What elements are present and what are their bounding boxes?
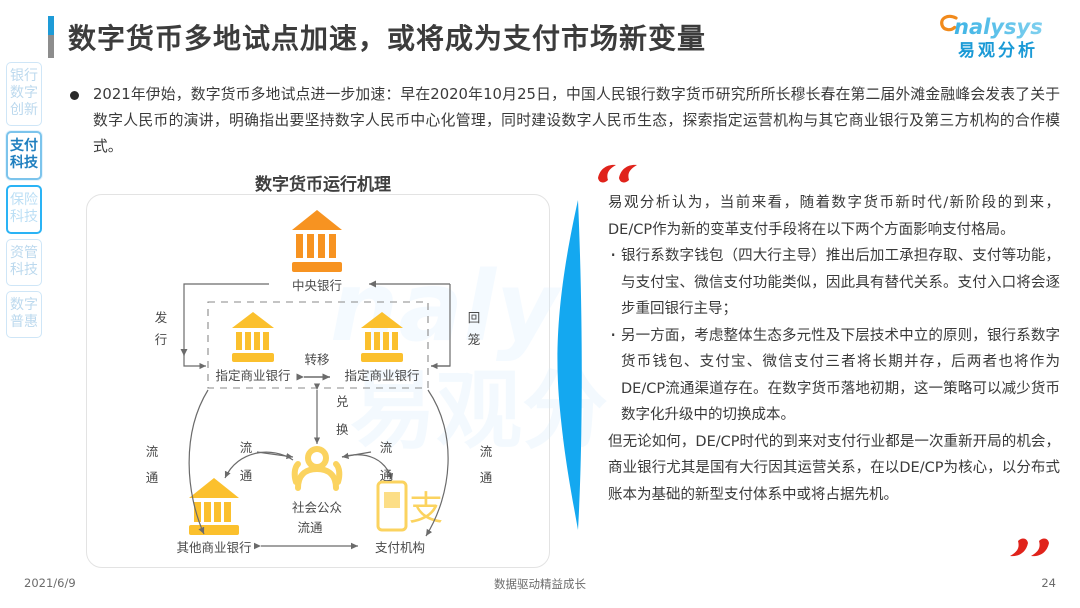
diagram-label-circ-mid-right2: 通 <box>380 468 393 483</box>
diagram-label-circ-left2: 通 <box>146 470 159 485</box>
diagram-label-circ-mid-left: 流 <box>240 440 253 455</box>
diagram-label-exchange2: 换 <box>336 422 349 437</box>
sidebar-item-label: 支付科技 <box>8 138 40 172</box>
bullet-dot-icon <box>70 91 79 100</box>
diagram-label-exchange: 兑 <box>336 394 349 409</box>
page-title-wrap: 数字货币多地试点加速，或将成为支付市场新变量 <box>48 16 706 58</box>
diagram-label-circ-right2: 通 <box>480 470 493 485</box>
intro-paragraph-block: 2021年伊始，数字货币多地试点进一步加速：早在2020年10月25日，中国人民… <box>70 82 1060 160</box>
commentary-bullet-item: 另一方面，考虑整体生态多元性及下层技术中立的原则，银行系数字货币钱包、支付宝、微… <box>608 323 1060 429</box>
sidebar-item-asset-management-tech[interactable]: 资管科技 <box>6 239 42 286</box>
diagram-label-withdraw2: 笼 <box>468 332 481 347</box>
quote-open-icon <box>596 164 642 186</box>
diagram-label-designated-bank-left: 指定商业银行 <box>215 368 290 383</box>
analysys-logo-icon: nalysys <box>938 12 1058 40</box>
public-person-icon <box>295 449 340 488</box>
commentary-panel: 易观分析认为，当前来看，随着数字货币新时代/新阶段的到来，DE/CP作为新的变革… <box>608 168 1060 523</box>
diagram-label-central-bank: 中央银行 <box>292 278 342 293</box>
designated-bank-left-icon <box>232 312 274 362</box>
sidebar-item-payment-tech[interactable]: 支付科技 <box>6 131 42 180</box>
sidebar-item-digital-inclusive-finance[interactable]: 数字普惠 <box>6 291 42 338</box>
blue-leaf-divider-icon <box>548 200 594 530</box>
sidebar-item-insurance-tech[interactable]: 保险科技 <box>6 185 42 234</box>
slide-root: 数字货币多地试点加速，或将成为支付市场新变量 nalysys 易观分析 <box>0 0 1080 608</box>
sidebar-item-label: 数字普惠 <box>7 297 41 331</box>
footer-slogan: 数据驱动精益成长 <box>0 576 1080 592</box>
commentary-text: 易观分析认为，当前来看，随着数字货币新时代/新阶段的到来，DE/CP作为新的变革… <box>608 168 1060 508</box>
diagram-label-circ-right: 流 <box>480 444 493 459</box>
footer-page-number: 24 <box>1041 576 1056 590</box>
diagram-label-circ-mid-right: 流 <box>380 440 393 455</box>
brand-logo: nalysys 易观分析 <box>938 12 1058 64</box>
commentary-bullet-list: 银行系数字钱包（四大行主导）推出后加工承担存取、支付等功能，与支付宝、微信支付功… <box>608 243 1060 429</box>
svg-text:支: 支 <box>409 489 443 529</box>
intro-paragraph-text: 2021年伊始，数字货币多地试点进一步加速：早在2020年10月25日，中国人民… <box>93 82 1060 160</box>
diagram-label-public: 社会公众 <box>292 500 342 515</box>
diagram-label-withdraw: 回 <box>468 310 481 325</box>
logo-cn-text: 易观分析 <box>938 41 1058 61</box>
sidebar-item-bank-digital-innovation[interactable]: 银行数字创新 <box>6 62 42 126</box>
diagram-label-transfer: 转移 <box>304 352 329 367</box>
diagram-label-other-bank: 其他商业银行 <box>176 540 251 555</box>
other-commercial-bank-icon <box>189 478 239 535</box>
diagram-label-payment-org: 支付机构 <box>375 540 425 555</box>
sidebar-item-label: 保险科技 <box>8 192 40 226</box>
diagram-title: 数字货币运行机理 <box>88 170 558 195</box>
slide-footer: 2021/6/9 数据驱动精益成长 24 <box>0 576 1080 598</box>
svg-text:nalysys: nalysys <box>954 15 1043 39</box>
sidebar-item-label: 资管科技 <box>7 245 41 279</box>
diagram-label-circ-mid-left2: 通 <box>240 468 253 483</box>
digital-currency-flow-diagram: 中央银行 发 行 回 笼 指定商业银行 <box>86 194 548 566</box>
sidebar-item-label: 银行数字创新 <box>7 68 41 119</box>
diagram-label-circ-bottom: 流通 <box>297 520 323 535</box>
quote-close-icon <box>1008 535 1054 557</box>
diagram-label-issue2: 行 <box>155 332 168 347</box>
sidebar-nav: 银行数字创新 支付科技 保险科技 资管科技 数字普惠 <box>6 62 46 343</box>
title-accent-bar <box>48 16 54 58</box>
slide-header: 数字货币多地试点加速，或将成为支付市场新变量 nalysys 易观分析 <box>0 0 1080 72</box>
commentary-intro: 易观分析认为，当前来看，随着数字货币新时代/新阶段的到来，DE/CP作为新的变革… <box>608 168 1060 243</box>
logo-wordmark: nalysys <box>938 12 1058 40</box>
designated-bank-right-icon <box>361 312 403 362</box>
diagram-label-designated-bank-right: 指定商业银行 <box>344 368 419 383</box>
commentary-bullet-item: 银行系数字钱包（四大行主导）推出后加工承担存取、支付等功能，与支付宝、微信支付功… <box>608 243 1060 323</box>
central-bank-icon <box>292 210 342 272</box>
diagram-label-circ-left: 流 <box>146 444 159 459</box>
page-title: 数字货币多地试点加速，或将成为支付市场新变量 <box>68 17 706 57</box>
diagram-label-issue: 发 <box>155 310 168 325</box>
commentary-conclusion: 但无论如何，DE/CP时代的到来对支付行业都是一次重新开局的机会，商业银行尤其是… <box>608 429 1060 509</box>
